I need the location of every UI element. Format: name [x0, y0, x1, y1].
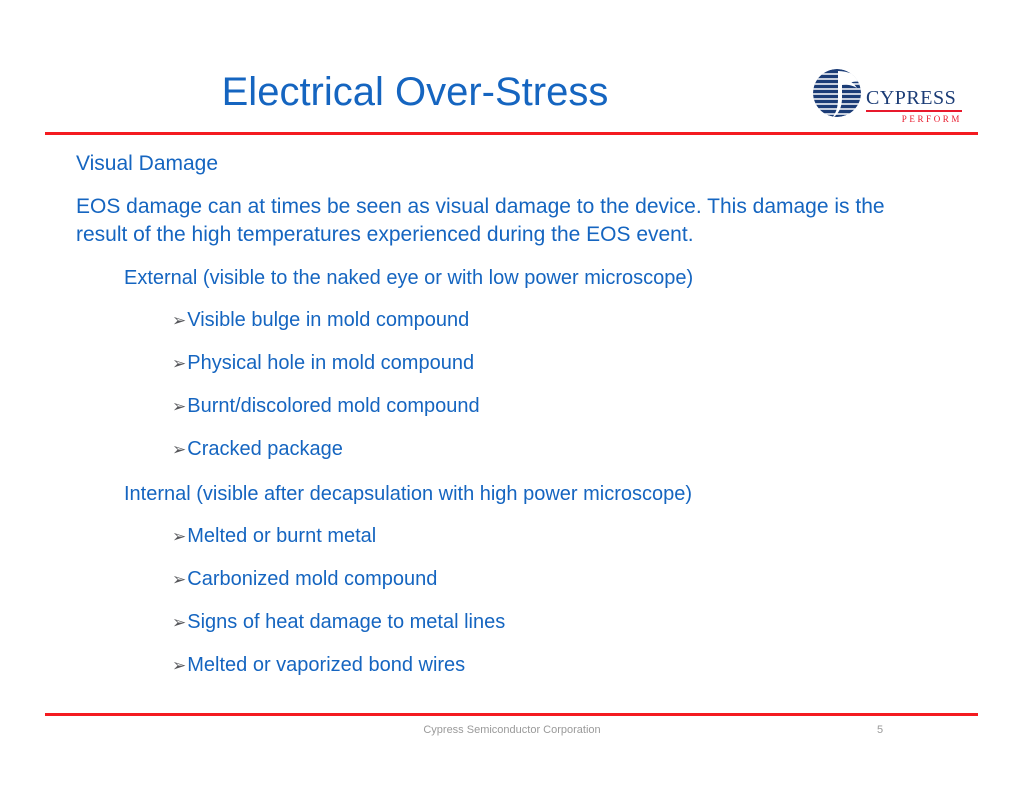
arrow-bullet-icon: ➢	[172, 567, 186, 593]
cypress-wordmark-text: CYPRESS	[866, 88, 966, 109]
cypress-wordmark: CYPRESS PERFORM	[866, 88, 966, 125]
cypress-logo: CYPRESS PERFORM	[812, 66, 972, 132]
list-item-label: Melted or vaporized bond wires	[187, 652, 465, 678]
list-item-label: Physical hole in mold compound	[187, 350, 474, 376]
page-title: Electrical Over-Stress	[45, 68, 785, 116]
slide: Electrical Over-Stress	[0, 0, 1024, 791]
arrow-bullet-icon: ➢	[172, 394, 186, 420]
list-item: ➢ Cracked package	[0, 436, 900, 463]
list-item-label: Signs of heat damage to metal lines	[187, 609, 505, 635]
page-number: 5	[840, 722, 920, 738]
section-label-internal: Internal (visible after decapsulation wi…	[0, 481, 900, 507]
header-divider	[45, 132, 978, 135]
list-item-label: Burnt/discolored mold compound	[187, 393, 479, 419]
list-item: ➢ Signs of heat damage to metal lines	[0, 609, 900, 636]
arrow-bullet-icon: ➢	[172, 524, 186, 550]
slide-body: Visual Damage EOS damage can at times be…	[0, 150, 1024, 695]
list-item: ➢ Visible bulge in mold compound	[0, 307, 900, 334]
arrow-bullet-icon: ➢	[172, 610, 186, 636]
list-item: ➢ Melted or burnt metal	[0, 523, 900, 550]
arrow-bullet-icon: ➢	[172, 653, 186, 679]
list-item-label: Carbonized mold compound	[187, 566, 437, 592]
list-item: ➢ Physical hole in mold compound	[0, 350, 900, 377]
list-item-label: Melted or burnt metal	[187, 523, 376, 549]
cypress-tagline-text: PERFORM	[866, 113, 962, 125]
footer-divider	[45, 713, 978, 716]
arrow-bullet-icon: ➢	[172, 351, 186, 377]
arrow-bullet-icon: ➢	[172, 308, 186, 334]
body-paragraph: EOS damage can at times be seen as visua…	[0, 193, 938, 249]
body-heading: Visual Damage	[0, 150, 860, 177]
list-item-label: Cracked package	[187, 436, 343, 462]
logo-divider	[866, 110, 962, 112]
list-item-label: Visible bulge in mold compound	[187, 307, 469, 333]
list-item: ➢ Burnt/discolored mold compound	[0, 393, 900, 420]
arrow-bullet-icon: ➢	[172, 437, 186, 463]
list-item: ➢ Carbonized mold compound	[0, 566, 900, 593]
cypress-bird-circle-logo-icon	[812, 68, 868, 120]
list-item: ➢ Melted or vaporized bond wires	[0, 652, 900, 679]
section-label-external: External (visible to the naked eye or wi…	[0, 265, 900, 291]
